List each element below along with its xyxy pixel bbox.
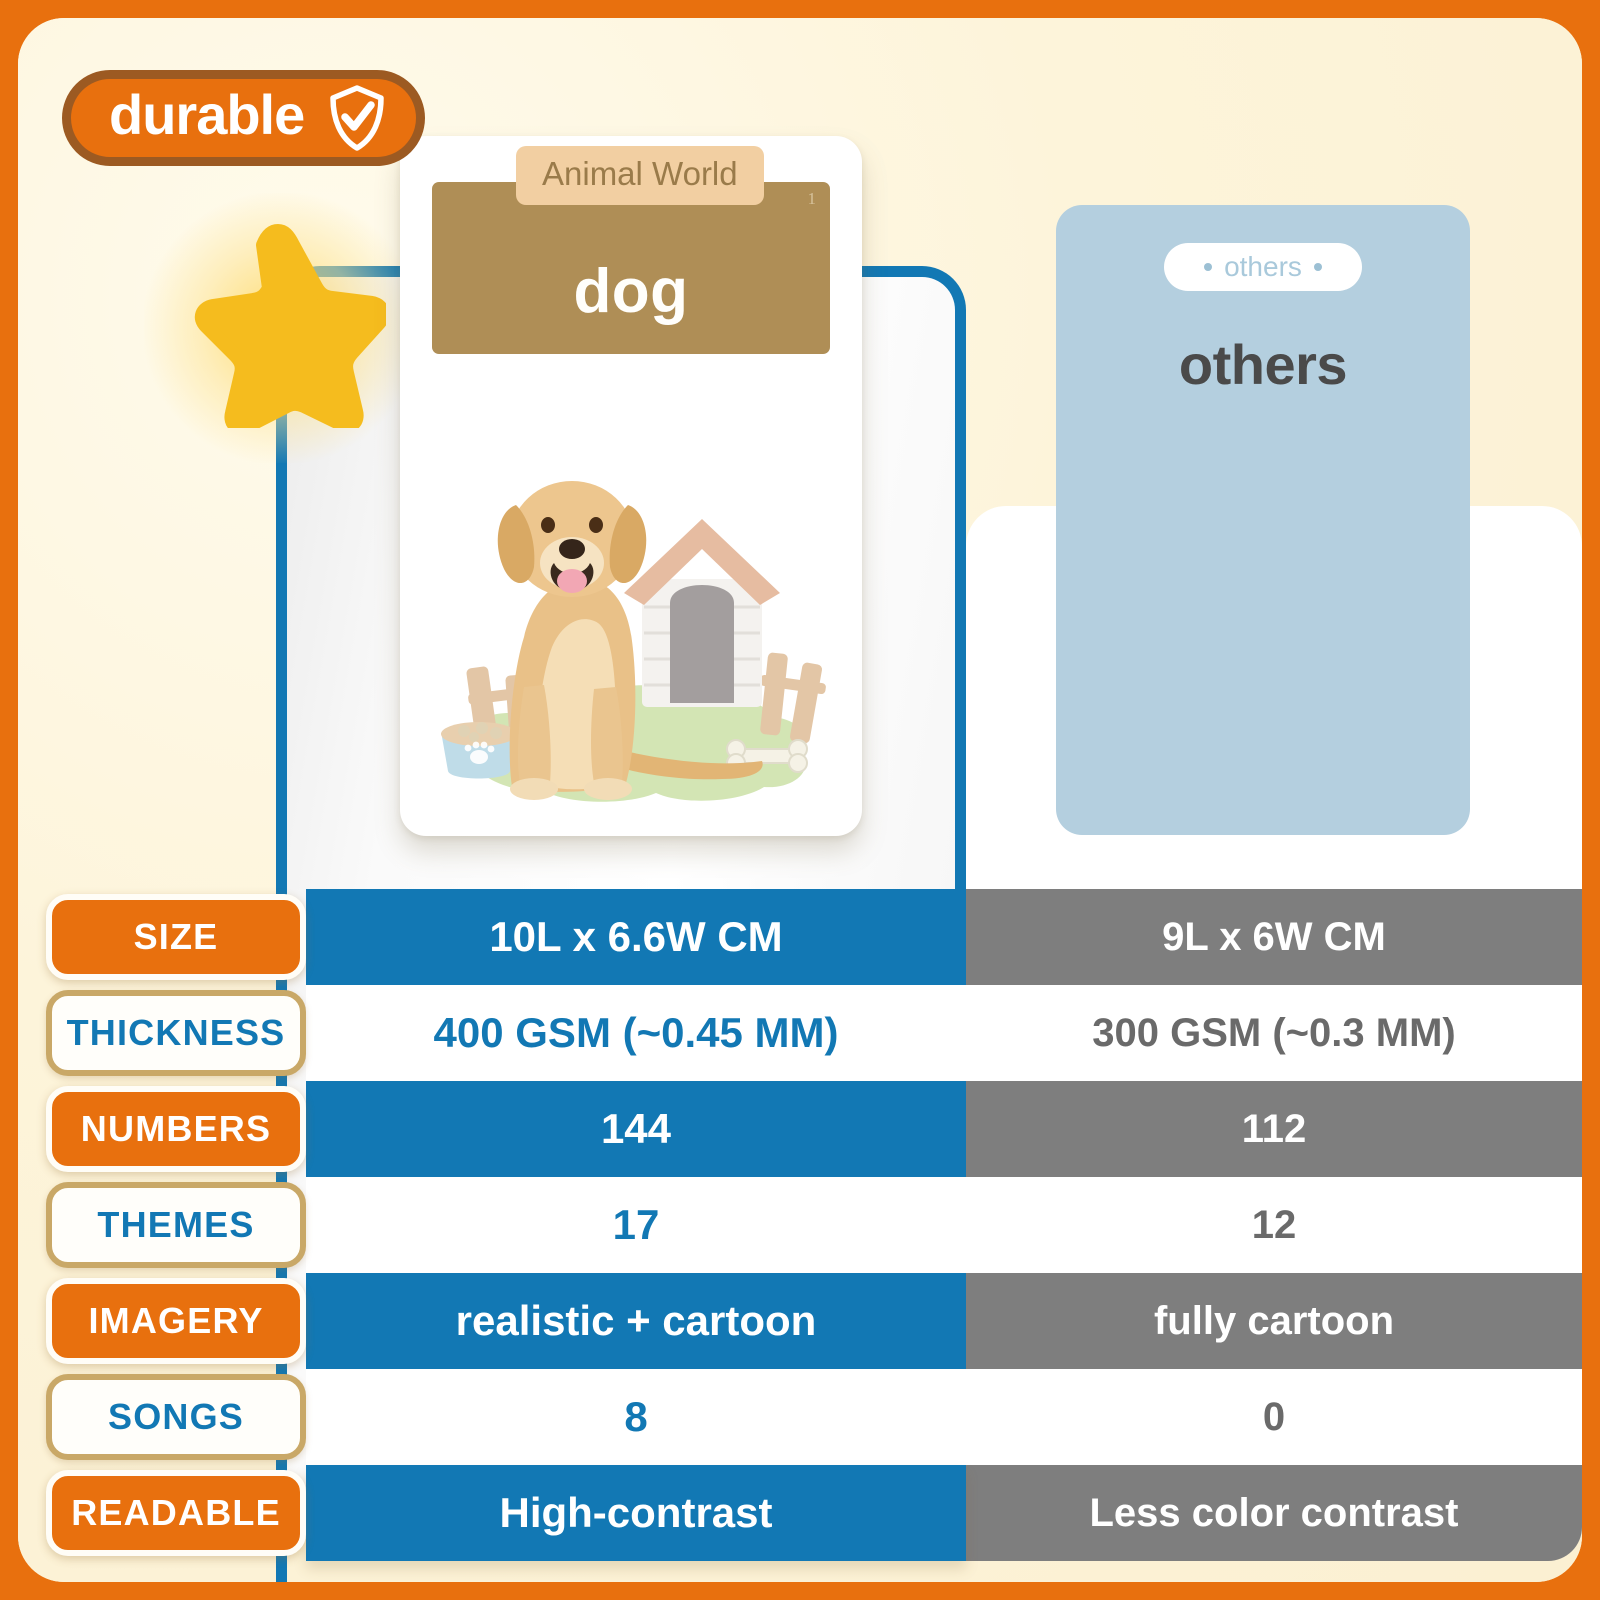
- row-value-ours: 10L x 6.6W CM: [306, 889, 966, 985]
- row-value-ours: 400 GSM (~0.45 MM): [306, 985, 966, 1081]
- others-word: others: [1056, 332, 1470, 397]
- table-row: SONGS 8 0: [18, 1369, 1582, 1465]
- table-row: SIZE 10L x 6.6W CM 9L x 6W CM: [18, 889, 1582, 985]
- row-label-songs: SONGS: [46, 1374, 306, 1460]
- table-row: READABLE High-contrast Less color contra…: [18, 1465, 1582, 1561]
- row-label-cell: READABLE: [18, 1465, 306, 1561]
- row-label-cell: SONGS: [18, 1369, 306, 1465]
- row-label-size: SIZE: [46, 894, 306, 980]
- oval-dot-right-icon: [1314, 263, 1322, 271]
- row-label-imagery: IMAGERY: [46, 1278, 306, 1364]
- row-label-cell: NUMBERS: [18, 1081, 306, 1177]
- row-value-theirs: Less color contrast: [966, 1465, 1582, 1561]
- row-value-theirs: 300 GSM (~0.3 MM): [966, 985, 1582, 1081]
- golden-retriever-illustration: [420, 431, 842, 831]
- row-label-cell: THEMES: [18, 1177, 306, 1273]
- table-row: NUMBERS 144 112: [18, 1081, 1582, 1177]
- flashcard-word: dog: [432, 256, 830, 327]
- poster-frame: 1 dog Animal World: [0, 0, 1600, 1600]
- row-value-theirs: 0: [966, 1369, 1582, 1465]
- row-label-cell: IMAGERY: [18, 1273, 306, 1369]
- row-label-thickness: THICKNESS: [46, 990, 306, 1076]
- row-value-ours: 17: [306, 1177, 966, 1273]
- star-icon: [176, 223, 386, 428]
- comparison-table: SIZE 10L x 6.6W CM 9L x 6W CM THICKNESS …: [18, 889, 1582, 1582]
- row-label-numbers: NUMBERS: [46, 1086, 306, 1172]
- row-value-ours: High-contrast: [306, 1465, 966, 1561]
- row-value-theirs: fully cartoon: [966, 1273, 1582, 1369]
- row-value-ours: realistic + cartoon: [306, 1273, 966, 1369]
- row-value-theirs: 12: [966, 1177, 1582, 1273]
- table-row: IMAGERY realistic + cartoon fully cartoo…: [18, 1273, 1582, 1369]
- others-oval-label: others: [1224, 251, 1302, 283]
- row-label-readable: READABLE: [46, 1470, 306, 1556]
- row-label-cell: SIZE: [18, 889, 306, 985]
- shield-check-icon: [326, 83, 388, 153]
- table-row: THICKNESS 400 GSM (~0.45 MM) 300 GSM (~0…: [18, 985, 1582, 1081]
- row-value-ours: 144: [306, 1081, 966, 1177]
- row-value-theirs: 112: [966, 1081, 1582, 1177]
- row-label-themes: THEMES: [46, 1182, 306, 1268]
- oval-dot-left-icon: [1204, 263, 1212, 271]
- flashcard-header-band: 1 dog: [432, 182, 830, 354]
- durable-badge[interactable]: durable: [62, 70, 425, 166]
- row-label-cell: THICKNESS: [18, 985, 306, 1081]
- others-flashcard[interactable]: others others: [1056, 205, 1470, 835]
- star-decoration: [176, 223, 386, 428]
- table-row: THEMES 17 12: [18, 1177, 1582, 1273]
- flashcard-number: 1: [808, 189, 817, 209]
- poster-canvas: 1 dog Animal World: [18, 18, 1582, 1582]
- durable-label: durable: [109, 87, 304, 143]
- others-oval-badge: others: [1164, 243, 1362, 291]
- flashcard-theme-tab: Animal World: [516, 146, 764, 205]
- row-value-ours: 8: [306, 1369, 966, 1465]
- ours-flashcard[interactable]: 1 dog Animal World: [400, 136, 862, 836]
- row-value-theirs: 9L x 6W CM: [966, 889, 1582, 985]
